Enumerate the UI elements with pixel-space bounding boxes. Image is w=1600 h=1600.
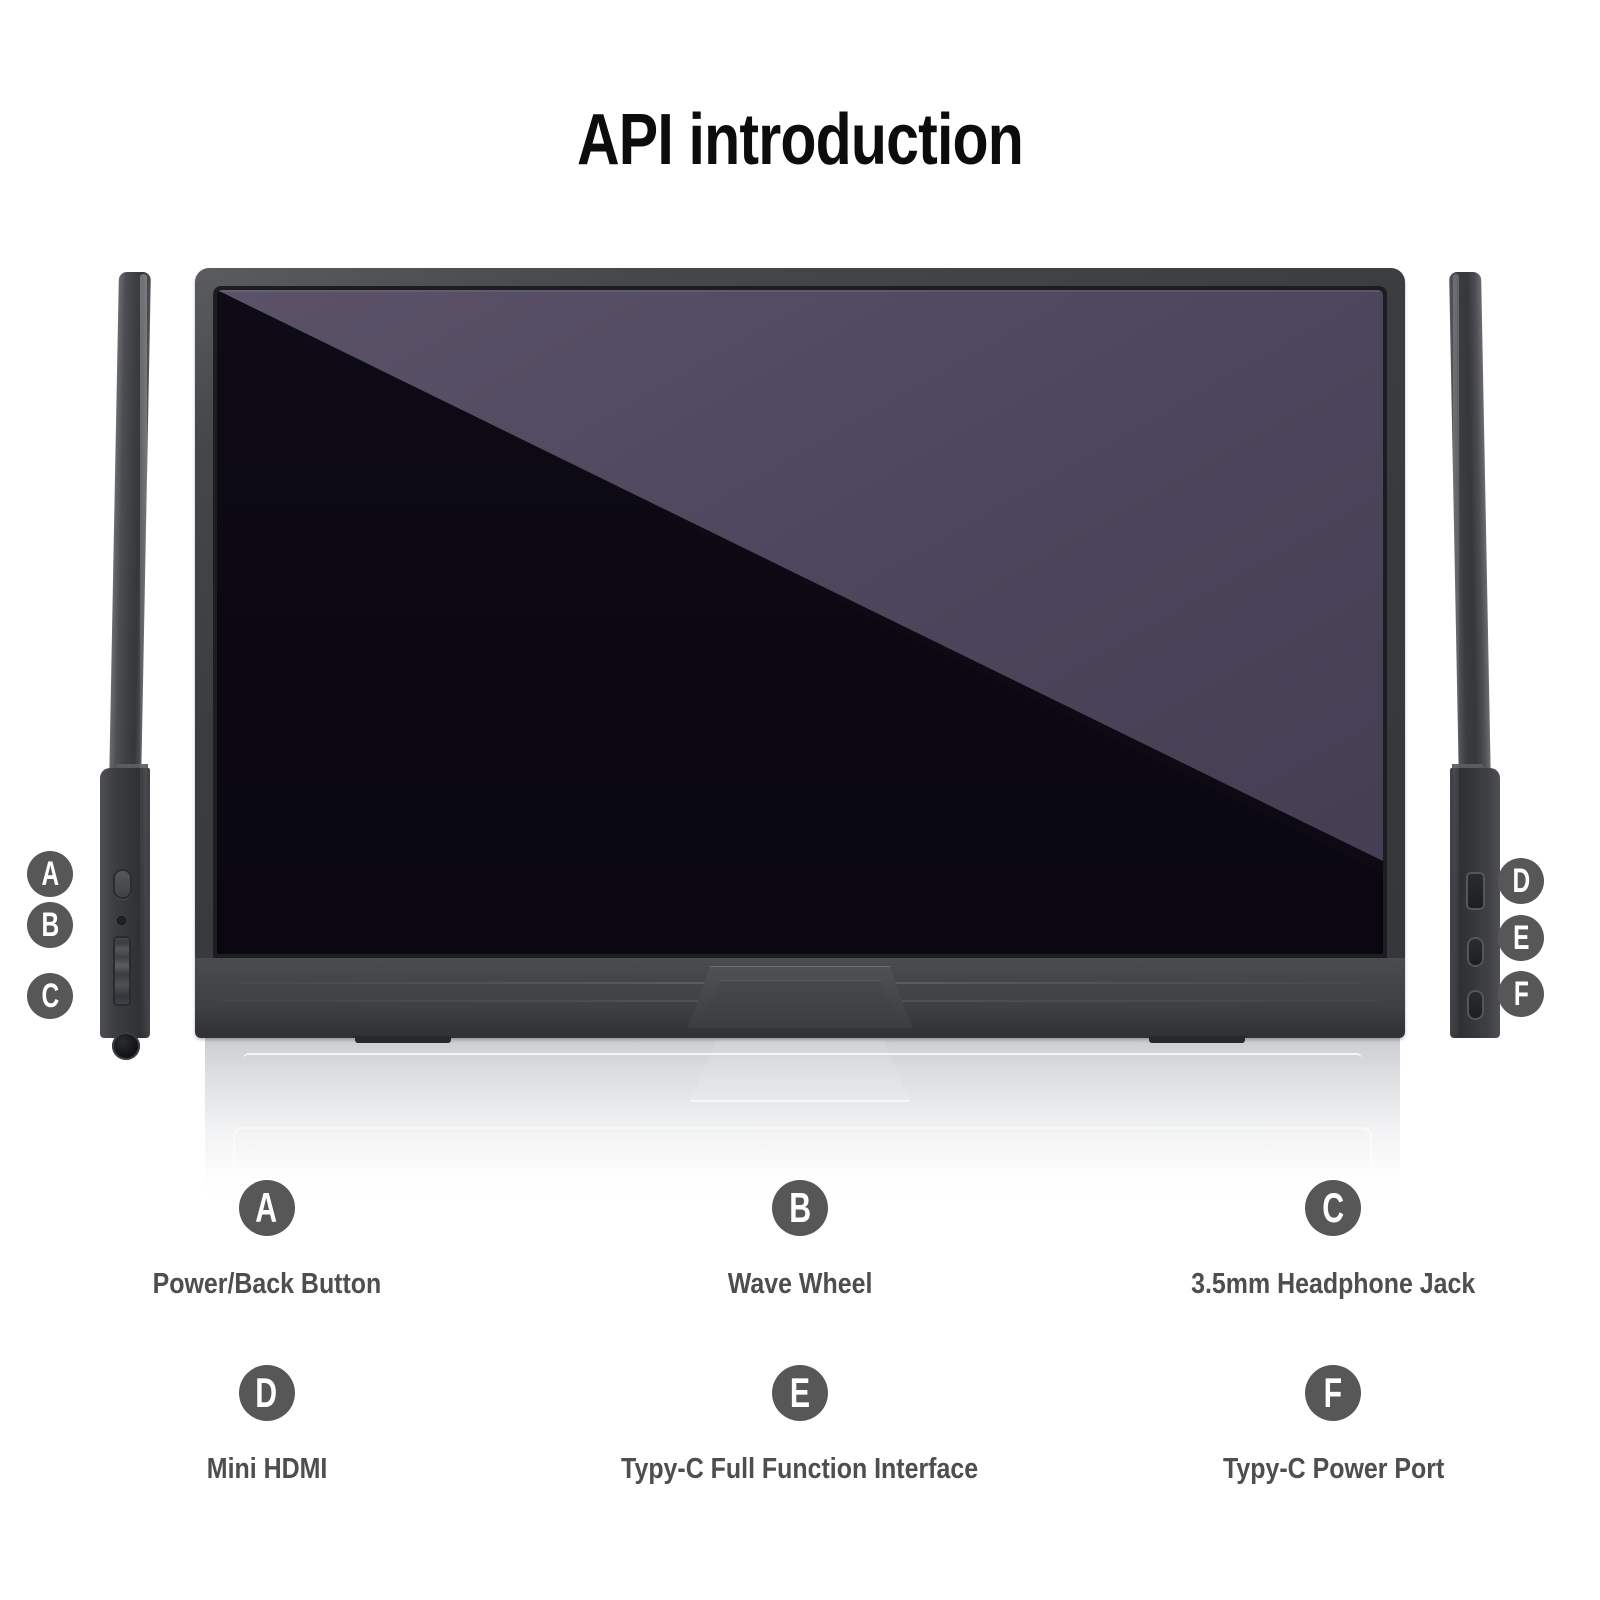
screen-top-edge [217, 290, 1383, 292]
badge-letter: C [1322, 1187, 1344, 1229]
badge-circle: C [27, 973, 73, 1019]
badge-letter: A [41, 857, 59, 891]
badge-circle: D [1498, 858, 1544, 904]
monitor-chin [195, 958, 1405, 1038]
right-panel-highlight [1453, 274, 1459, 1034]
legend-item-f[interactable]: F Typy-C Power Port [1067, 1365, 1600, 1550]
left-panel-highlight [140, 274, 147, 1034]
badge-letter: B [789, 1187, 811, 1229]
wave-wheel-icon[interactable] [113, 936, 131, 1006]
legend-label: Mini HDMI [206, 1455, 327, 1484]
badge-letter: A [256, 1187, 278, 1229]
status-led-icon [117, 916, 126, 925]
badge-letter: E [1513, 921, 1529, 955]
legend-item-c[interactable]: C 3.5mm Headphone Jack [1067, 1180, 1600, 1365]
callout-badge-d[interactable]: D [1498, 858, 1544, 904]
monitor-right-side-view [1438, 272, 1500, 1038]
stand-hinge-outer [688, 966, 912, 1028]
callout-badge-f[interactable]: F [1498, 971, 1544, 1017]
badge-letter: E [790, 1372, 810, 1414]
badge-letter: F [1324, 1372, 1342, 1414]
product-illustration: A B C D E F [0, 0, 1600, 1210]
badge-letter: D [256, 1372, 278, 1414]
badge-circle: B [27, 902, 73, 948]
legend-label: 3.5mm Headphone Jack [1191, 1270, 1475, 1299]
badge-letter: B [41, 908, 59, 942]
callout-badge-c[interactable]: C [27, 973, 73, 1019]
legend-item-e[interactable]: E Typy-C Full Function Interface [533, 1365, 1066, 1550]
monitor-foot-right [1149, 1036, 1245, 1043]
badge-circle: B [772, 1180, 828, 1236]
legend-item-b[interactable]: B Wave Wheel [533, 1180, 1066, 1365]
legend-item-a[interactable]: A Power/Back Button [0, 1180, 533, 1365]
monitor-foot-left [355, 1036, 451, 1043]
badge-letter: F [1514, 977, 1529, 1011]
callout-badge-a[interactable]: A [27, 851, 73, 897]
legend-row-1: A Power/Back Button B Wave Wheel C 3.5mm… [0, 1180, 1600, 1365]
badge-circle: A [239, 1180, 295, 1236]
monitor-front-view [195, 268, 1405, 1038]
badge-circle: C [1305, 1180, 1361, 1236]
monitor-bezel [213, 286, 1387, 958]
monitor-screen [217, 290, 1383, 954]
power-back-button-icon[interactable] [113, 869, 132, 899]
mini-hdmi-port-icon[interactable] [1466, 872, 1485, 910]
callout-badge-b[interactable]: B [27, 902, 73, 948]
badge-letter: D [1512, 864, 1530, 898]
legend-label: Typy-C Full Function Interface [621, 1455, 978, 1484]
legend-row-2: D Mini HDMI E Typy-C Full Function Inter… [0, 1365, 1600, 1550]
stand-hinge-inner [704, 980, 896, 1018]
callout-badge-e[interactable]: E [1498, 915, 1544, 961]
badge-circle: F [1498, 971, 1544, 1017]
badge-letter: C [41, 979, 59, 1013]
badge-circle: E [1498, 915, 1544, 961]
legend-label: Wave Wheel [728, 1270, 873, 1299]
badge-circle: D [239, 1365, 295, 1421]
legend-item-d[interactable]: D Mini HDMI [0, 1365, 533, 1550]
infographic-canvas: API introduction [0, 0, 1600, 1600]
device-reflection-hinge [690, 1040, 910, 1102]
badge-circle: A [27, 851, 73, 897]
monitor-left-side-view [100, 272, 162, 1038]
legend: A Power/Back Button B Wave Wheel C 3.5mm… [0, 1180, 1600, 1550]
typec-power-port-icon[interactable] [1467, 990, 1484, 1020]
badge-circle: F [1305, 1365, 1361, 1421]
legend-label: Power/Back Button [152, 1270, 381, 1299]
badge-circle: E [772, 1365, 828, 1421]
headphone-jack-icon[interactable] [112, 1032, 140, 1060]
legend-label: Typy-C Power Port [1223, 1455, 1444, 1484]
typec-full-function-port-icon[interactable] [1467, 937, 1484, 967]
